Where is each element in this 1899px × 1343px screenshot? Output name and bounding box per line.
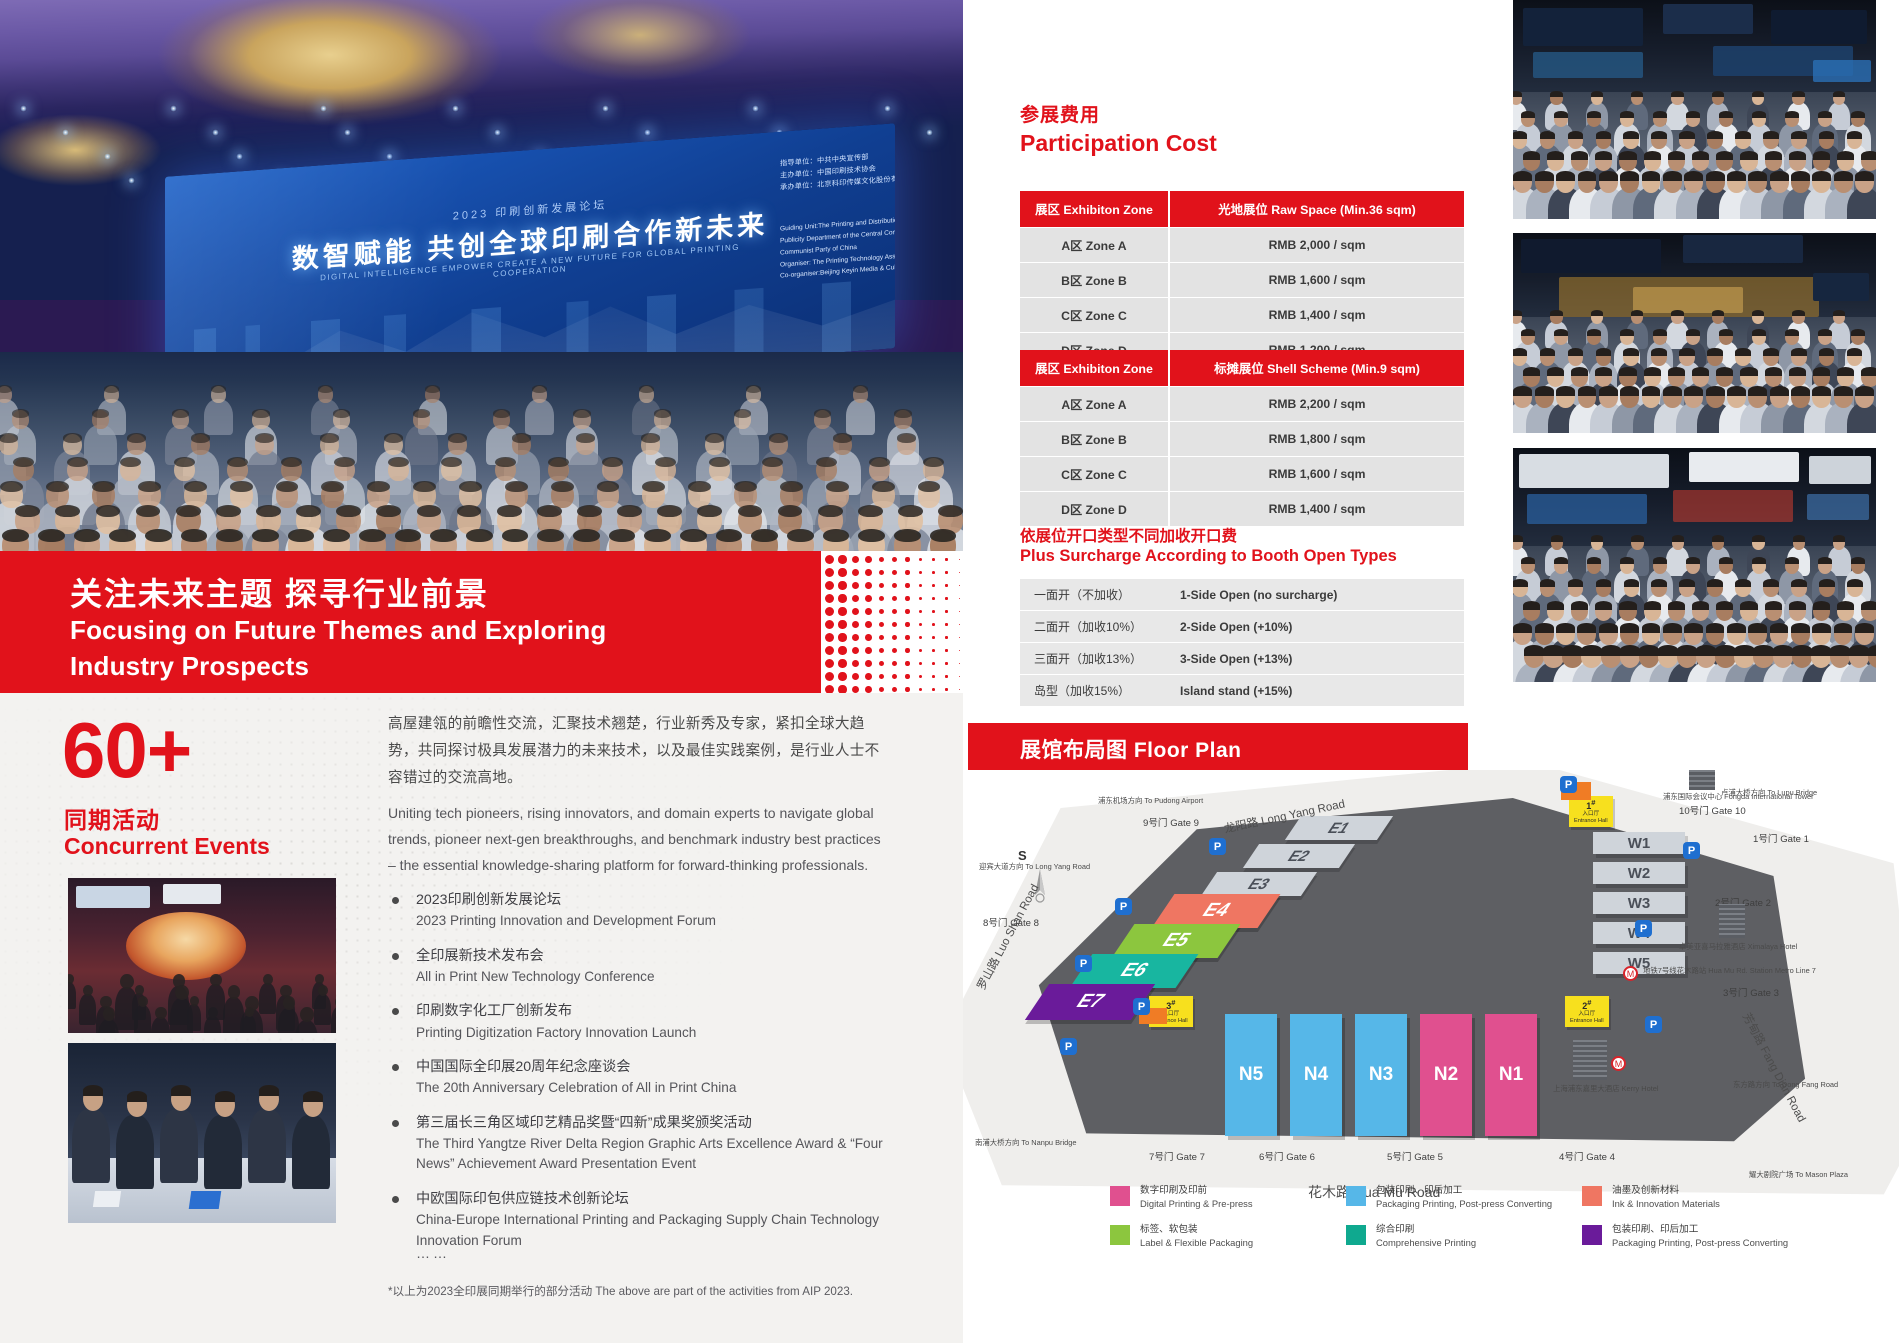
- rp3-person-hair: [1523, 601, 1540, 610]
- rp2-person-hair: [1812, 386, 1831, 396]
- list-item: 中国国际全印展20周年纪念座谈会The 20th Anniversary Cel…: [388, 1057, 898, 1099]
- rp3-booth: [1807, 494, 1869, 520]
- cost-title-cn: 参展费用: [1020, 100, 1100, 127]
- cell-zone: C区 Zone C: [1020, 298, 1168, 332]
- rp3-person-hair: [1568, 579, 1584, 587]
- event-name-cn: 2023印刷创新发展论坛: [416, 890, 898, 911]
- rp3-person-hair: [1591, 535, 1604, 542]
- rp1-person-hair: [1540, 131, 1556, 139]
- table-row: B区 Zone BRMB 1,600 / sqm: [1020, 263, 1464, 297]
- event-name-en: The Third Yangtze River Delta Region Gra…: [416, 1134, 898, 1175]
- rp1-person-hair: [1765, 151, 1782, 160]
- rp3-person-hair: [1734, 645, 1754, 656]
- legend-label-cn: 数字印刷及印前: [1140, 1185, 1325, 1198]
- rp3-person-hair: [1813, 601, 1830, 610]
- rp2-person-hair: [1834, 386, 1853, 396]
- legend-label-cn: 综合印刷: [1376, 1224, 1561, 1237]
- concurrent-events-label-en: Concurrent Events: [64, 833, 270, 860]
- cost-title-en: Participation Cost: [1020, 130, 1217, 157]
- left-column: 2023 印刷创新发展论坛 数智赋能 共创全球印刷合作新未来 DIGITAL I…: [0, 0, 963, 1343]
- rp2-person-hair: [1851, 329, 1865, 336]
- legend-label-cn: 包装印刷、印后加工: [1376, 1185, 1561, 1198]
- rp3-person-hair: [1595, 601, 1612, 610]
- rp1-person-hair: [1587, 111, 1601, 118]
- rp1-person-hair: [1752, 111, 1766, 118]
- rp2-person-hair: [1668, 367, 1685, 376]
- poi-metro-station: 地铁7号线花木路站 Hua Mu Rd. Station Metro Line …: [1643, 966, 1816, 976]
- rp2-person-hair: [1818, 329, 1832, 336]
- cell-zone: B区 Zone B: [1020, 422, 1168, 456]
- rp1-person-hair: [1596, 131, 1612, 139]
- rp1-booth: [1663, 4, 1753, 34]
- rp3-person-hair: [1707, 579, 1723, 587]
- cell-open-type-cn: 二面开（加收10%）: [1020, 611, 1168, 642]
- rp1-person-hair: [1547, 151, 1564, 160]
- rp1-person-hair: [1716, 151, 1733, 160]
- events-footnote: *以上为2023全印展同期举行的部分活动 The above are part …: [388, 1283, 853, 1299]
- rp2-person-hair: [1833, 310, 1845, 316]
- rp3-person-hair: [1577, 623, 1596, 633]
- rp3-person-hair: [1818, 557, 1832, 564]
- rp2-person-hair: [1620, 329, 1634, 336]
- rp3-person-hair: [1791, 579, 1807, 587]
- rp3-person-hair: [1684, 623, 1703, 633]
- rp2-person-hair: [1763, 348, 1779, 356]
- cell-open-type-en: 3-Side Open (+13%): [1168, 643, 1464, 674]
- rp2-person-hair: [1513, 386, 1532, 396]
- right-photo-column: [1470, 0, 1899, 711]
- table-row: 三面开（加收13%）3-Side Open (+13%): [1020, 643, 1464, 674]
- surcharge-table: 一面开（不加收）1-Side Open (no surcharge)二面开（加收…: [1020, 578, 1464, 707]
- rp3-person-hair: [1679, 579, 1695, 587]
- cell-open-type-en: Island stand (+15%): [1168, 675, 1464, 706]
- rp2-booth: [1521, 239, 1661, 273]
- hall-N4[interactable]: N4: [1290, 1014, 1342, 1136]
- event-name-en: The 20th Anniversary Celebration of All …: [416, 1078, 898, 1098]
- rp2-booth: [1683, 235, 1803, 263]
- rp2-person-hair: [1596, 348, 1612, 356]
- legend-color-swatch: [1346, 1225, 1366, 1245]
- col-header-price: 标摊展位 Shell Scheme (Min.9 sqm): [1168, 350, 1464, 386]
- hall-N2[interactable]: N2: [1420, 1014, 1472, 1136]
- headline-en-line1: Focusing on Future Themes and Exploring: [70, 615, 607, 646]
- rp1-booth: [1813, 60, 1871, 82]
- rp3-person-hair: [1620, 623, 1639, 633]
- rp3-person-hair: [1620, 557, 1634, 564]
- rp2-person-hair: [1554, 329, 1568, 336]
- headline-banner: 关注未来主题 探寻行业前景 Focusing on Future Themes …: [0, 551, 821, 693]
- legend-item: 综合印刷Comprehensive Printing: [1346, 1224, 1561, 1250]
- rp3-person-hair: [1789, 601, 1806, 610]
- rp3-person-hair: [1581, 645, 1601, 656]
- rp2-person-hair: [1679, 348, 1695, 356]
- thumbnail-photo-exhibition: [68, 878, 336, 1033]
- screen-credits-en: Guiding Unit:The Printing and Distributi…: [780, 206, 895, 283]
- legend-color-swatch: [1346, 1186, 1366, 1206]
- exhibition-photo-3: [1513, 448, 1876, 682]
- table-row: B区 Zone BRMB 1,800 / sqm: [1020, 422, 1464, 456]
- rp3-person-hair: [1716, 601, 1733, 610]
- rp2-person-hair: [1792, 310, 1804, 316]
- rp2-person-hair: [1578, 386, 1597, 396]
- cell-price: RMB 1,600 / sqm: [1168, 457, 1464, 491]
- rp3-person-hair: [1765, 601, 1782, 610]
- cell-price: RMB 1,400 / sqm: [1168, 492, 1464, 526]
- rp2-person-hair: [1619, 367, 1636, 376]
- rp1-person-hair: [1684, 171, 1703, 181]
- event-name-en: 2023 Printing Innovation and Development…: [416, 911, 898, 931]
- event-name-cn: 中国国际全印展20周年纪念座谈会: [416, 1057, 898, 1078]
- gate-label-10: 10号门 Gate 10: [1679, 806, 1746, 818]
- thumbnail-photo-forum: [68, 1043, 336, 1223]
- rp2-person-hair: [1719, 329, 1733, 336]
- rp3-person-hair: [1868, 645, 1876, 656]
- rp1-person-hair: [1679, 131, 1695, 139]
- parking-P7[interactable]: P: [1075, 955, 1092, 972]
- rp2-person-hair: [1785, 329, 1799, 336]
- rp2-person-hair: [1735, 348, 1751, 356]
- legend-color-swatch: [1110, 1225, 1130, 1245]
- rp1-person-hair: [1686, 111, 1700, 118]
- rp3-person-hair: [1735, 579, 1751, 587]
- rp2-person-hair: [1847, 348, 1863, 356]
- rp1-person-hair: [1620, 171, 1639, 181]
- rp2-person-hair: [1837, 367, 1854, 376]
- rp3-person-hair: [1639, 645, 1659, 656]
- rp3-person-hair: [1521, 557, 1535, 564]
- rp1-person-hair: [1812, 171, 1831, 181]
- entrance-hall-2[interactable]: 2#入口厅Entrance Hall: [1565, 996, 1609, 1027]
- cell-zone: D区 Zone D: [1020, 492, 1168, 526]
- rp2-booth: [1633, 287, 1743, 313]
- rp3-person-hair: [1748, 623, 1767, 633]
- rp3-person-hair: [1624, 579, 1640, 587]
- legend-column: 油墨及创新材料Ink & Innovation Materials包装印刷、印后…: [1582, 1185, 1797, 1262]
- event-name-cn: 第三届长三角区域印艺精品奖暨“四新”成果奖颁奖活动: [416, 1113, 898, 1134]
- rp2-person-hair: [1653, 329, 1667, 336]
- kerry-hotel-icon: [1573, 1040, 1607, 1080]
- rp1-booth: [1523, 8, 1643, 46]
- compass-south-label: S: [1018, 848, 1027, 863]
- rp2-person-hair: [1727, 386, 1746, 396]
- rp3-person-hair: [1812, 623, 1831, 633]
- rp1-person-hair: [1671, 91, 1683, 97]
- rp3-person-hair: [1686, 557, 1700, 564]
- rp3-person-hair: [1753, 645, 1773, 656]
- rp1-person-hair: [1818, 111, 1832, 118]
- rp3-person-hair: [1653, 557, 1667, 564]
- headline-en-line2: Industry Prospects: [70, 651, 309, 682]
- legend-label-en: Ink & Innovation Materials: [1612, 1198, 1797, 1211]
- parking-P3[interactable]: P: [1209, 838, 1226, 855]
- rp2-person-hair: [1540, 348, 1556, 356]
- exhibition-photo-2: [1513, 233, 1876, 433]
- rp3-person-hair: [1562, 645, 1582, 656]
- poi-lupu-bridge-dir: 卢浦大桥方向 To Lupu Bridge: [1721, 788, 1817, 798]
- legend-label-en: Label & Flexible Packaging: [1140, 1237, 1325, 1250]
- rp3-person-hair: [1712, 535, 1725, 542]
- cell-open-type-cn: 岛型（加收15%）: [1020, 675, 1168, 706]
- rp3-person-hair: [1513, 535, 1523, 542]
- rp1-person-hair: [1855, 171, 1874, 181]
- rp3-person-hair: [1620, 645, 1640, 656]
- rp3-person-hair: [1587, 557, 1601, 564]
- rp1-person-hair: [1644, 151, 1661, 160]
- rp1-person-hair: [1620, 111, 1634, 118]
- rp2-person-hair: [1556, 386, 1575, 396]
- rp2-person-hair: [1620, 386, 1639, 396]
- rp3-person-hair: [1631, 535, 1644, 542]
- thumb1-lantern: [126, 912, 246, 980]
- rp3-person-hair: [1719, 557, 1733, 564]
- description-paragraph-en: Uniting tech pioneers, rising innovators…: [388, 801, 888, 879]
- list-item: 第三届长三角区域印艺精品奖暨“四新”成果奖颁奖活动The Third Yangt…: [388, 1113, 898, 1175]
- event-count: 60+: [62, 711, 191, 789]
- event-name-cn: 印刷数字化工厂创新发布: [416, 1001, 898, 1022]
- rp3-person-hair: [1706, 623, 1725, 633]
- rp1-person-hair: [1847, 131, 1863, 139]
- rp3-person-hair: [1551, 535, 1564, 542]
- cell-zone: A区 Zone A: [1020, 387, 1168, 421]
- legend-color-swatch: [1582, 1225, 1602, 1245]
- rp1-person-hair: [1833, 91, 1845, 97]
- hall-W2[interactable]: W2: [1593, 862, 1685, 884]
- rp2-person-hair: [1547, 367, 1564, 376]
- poi-pudong-airport-dir: 浦东机场方向 To Pudong Airport: [1098, 796, 1203, 806]
- legend-item: 包装印刷、印后加工Packaging Printing, Post-press …: [1582, 1224, 1797, 1250]
- rp3-person-hair: [1543, 645, 1563, 656]
- rp2-person-hair: [1791, 386, 1810, 396]
- rp1-person-hair: [1791, 171, 1810, 181]
- rp3-booth: [1689, 452, 1799, 482]
- legend-item: 油墨及创新材料Ink & Innovation Materials: [1582, 1185, 1797, 1211]
- rp3-booth: [1809, 456, 1871, 484]
- legend-label-cn: 包装印刷、印后加工: [1612, 1224, 1797, 1237]
- rp3-person-hair: [1715, 645, 1735, 656]
- rp1-booth: [1771, 10, 1867, 44]
- rp3-person-hair: [1793, 535, 1806, 542]
- cell-zone: C区 Zone C: [1020, 457, 1168, 491]
- rp1-person-hair: [1591, 91, 1603, 97]
- raw-space-price-table: 展区 Exhibiton Zone光地展位 Raw Space (Min.36 …: [1020, 190, 1464, 368]
- rp2-person-hair: [1623, 348, 1639, 356]
- rp3-booth: [1519, 454, 1669, 488]
- rp2-person-hair: [1813, 367, 1830, 376]
- rp2-person-hair: [1535, 386, 1554, 396]
- rp2-person-hair: [1568, 348, 1584, 356]
- parking-P1[interactable]: P: [1060, 1038, 1077, 1055]
- list-item: 全印展新技术发布会All in Print New Technology Con…: [388, 946, 898, 988]
- tower-building-icon: [1689, 770, 1715, 790]
- table-row: C区 Zone CRMB 1,400 / sqm: [1020, 298, 1464, 332]
- rp1-person-hair: [1668, 151, 1685, 160]
- hall-N1[interactable]: N1: [1485, 1014, 1537, 1136]
- rp1-person-hair: [1595, 151, 1612, 160]
- list-item: 印刷数字化工厂创新发布Printing Digitization Factory…: [388, 1001, 898, 1043]
- rp2-person-hair: [1765, 367, 1782, 376]
- rp1-person-hair: [1789, 151, 1806, 160]
- rp2-person-hair: [1513, 348, 1527, 356]
- thumb1-sign-mid: [163, 884, 221, 904]
- rp3-person-hair: [1833, 535, 1846, 542]
- screen-credits-cn: 指导单位：中共中央宣传部 主办单位：中国印刷技术协会 承办单位：北京科印传媒文化…: [780, 140, 895, 193]
- parking-P4[interactable]: P: [1683, 842, 1700, 859]
- rp1-person-hair: [1599, 171, 1618, 181]
- floorplan-header-label: 展馆布局图 Floor Plan: [1020, 734, 1242, 764]
- rp3-person-hair: [1849, 645, 1869, 656]
- rp1-person-hair: [1727, 171, 1746, 181]
- rp1-person-hair: [1791, 131, 1807, 139]
- rp1-person-hair: [1712, 91, 1724, 97]
- concurrent-events-label-cn: 同期活动: [64, 801, 160, 835]
- table-row: C区 Zone CRMB 1,600 / sqm: [1020, 457, 1464, 491]
- legend-label-cn: 标签、软包装: [1140, 1224, 1325, 1237]
- rp1-person-hair: [1707, 131, 1723, 139]
- rp2-person-hair: [1663, 386, 1682, 396]
- rp3-person-hair: [1847, 579, 1863, 587]
- rp3-person-hair: [1672, 535, 1685, 542]
- parking-P-VIP[interactable]: P: [1560, 776, 1577, 793]
- rp2-person-hair: [1671, 310, 1683, 316]
- rp1-person-hair: [1692, 151, 1709, 160]
- rp2-person-hair: [1770, 386, 1789, 396]
- legend-label-en: Digital Printing & Pre-press: [1140, 1198, 1325, 1211]
- ximalaya-hotel-icon: [1719, 904, 1745, 938]
- rp1-person-hair: [1568, 131, 1584, 139]
- rp3-person-hair: [1851, 557, 1865, 564]
- hall-E3[interactable]: E3: [1201, 872, 1317, 896]
- table-row: A区 Zone ARMB 2,000 / sqm: [1020, 228, 1464, 262]
- poi-long-yang-road-dir: 迎宾大道方向 To Long Yang Road: [979, 862, 1090, 872]
- parking-P2[interactable]: P: [1115, 898, 1132, 915]
- entrance-hall-1[interactable]: 1#入口厅Entrance Hall: [1569, 796, 1613, 827]
- rp1-person-hair: [1642, 171, 1661, 181]
- table-row: 二面开（加收10%）2-Side Open (+10%): [1020, 611, 1464, 642]
- cell-price: RMB 1,800 / sqm: [1168, 422, 1464, 456]
- rp3-person-hair: [1830, 645, 1850, 656]
- rp1-person-hair: [1792, 91, 1804, 97]
- legend-column: 包装印刷、印后加工Packaging Printing, Post-press …: [1346, 1185, 1561, 1262]
- brochure-page: 2023 印刷创新发展论坛 数智赋能 共创全球印刷合作新未来 DIGITAL I…: [0, 0, 1899, 1343]
- rp1-person-hair: [1571, 151, 1588, 160]
- rp1-person-hair: [1763, 131, 1779, 139]
- table-row: D区 Zone DRMB 1,400 / sqm: [1020, 492, 1464, 526]
- rp2-booth: [1813, 273, 1869, 301]
- shell-scheme-price-table: 展区 Exhibiton Zone标摊展位 Shell Scheme (Min.…: [1020, 349, 1464, 527]
- table-row: A区 Zone ARMB 2,200 / sqm: [1020, 387, 1464, 421]
- legend-item: 标签、软包装Label & Flexible Packaging: [1110, 1224, 1325, 1250]
- table-header-row: 展区 Exhibiton Zone标摊展位 Shell Scheme (Min.…: [1020, 350, 1464, 386]
- metro-icon-2: M: [1611, 1056, 1626, 1071]
- rp2-person-hair: [1631, 310, 1643, 316]
- rp1-person-hair: [1619, 151, 1636, 160]
- hall-N3[interactable]: N3: [1355, 1014, 1407, 1136]
- rp3-person-hair: [1571, 601, 1588, 610]
- table-row: 岛型（加收15%）Island stand (+15%): [1020, 675, 1464, 706]
- rp2-person-hair: [1748, 386, 1767, 396]
- surcharge-title-cn: 依展位开口类型不同加收开口费: [1020, 524, 1237, 546]
- audience-crowd: [0, 352, 963, 551]
- col-header-price: 光地展位 Raw Space (Min.36 sqm): [1168, 191, 1464, 227]
- hall-W1[interactable]: W1: [1593, 832, 1685, 854]
- gate-label-5: 5号门 Gate 5: [1387, 1152, 1443, 1164]
- rp1-person-hair: [1653, 111, 1667, 118]
- rp3-person-hair: [1752, 557, 1766, 564]
- hall-W3[interactable]: W3: [1593, 892, 1685, 914]
- rp3-booth: [1527, 494, 1647, 524]
- poi-ximalaya-hotel: 卓美亚喜马拉雅酒店 Ximalaya Hotel: [1679, 942, 1797, 952]
- rp2-person-hair: [1595, 367, 1612, 376]
- rp3-person-hair: [1727, 623, 1746, 633]
- rp2-person-hair: [1651, 348, 1667, 356]
- rp2-person-hair: [1521, 329, 1535, 336]
- poi-kerry-hotel: 上海浦东嘉里大酒店 Kerry Hotel: [1553, 1084, 1659, 1094]
- hall-E2[interactable]: E2: [1243, 844, 1355, 868]
- rp3-person-hair: [1819, 579, 1835, 587]
- hall-N5[interactable]: N5: [1225, 1014, 1277, 1136]
- rp3-person-hair: [1785, 557, 1799, 564]
- rp1-person-hair: [1770, 171, 1789, 181]
- list-item: 中欧国际印包供应链技术创新论坛China-Europe Internationa…: [388, 1189, 898, 1251]
- list-item: 2023印刷创新发展论坛2023 Printing Innovation and…: [388, 890, 898, 932]
- cell-zone: B区 Zone B: [1020, 263, 1168, 297]
- poi-mason-plaza-dir: 耀大剧院广场 To Mason Plaza: [1749, 1170, 1848, 1180]
- rp3-person-hair: [1651, 579, 1667, 587]
- parking-P6[interactable]: P: [1645, 1016, 1662, 1033]
- rp2-person-hair: [1591, 310, 1603, 316]
- rp1-person-hair: [1550, 91, 1562, 97]
- rp3-person-hair: [1644, 601, 1661, 610]
- cell-open-type-cn: 三面开（加收13%）: [1020, 643, 1168, 674]
- rp1-person-hair: [1523, 151, 1540, 160]
- rp3-person-hair: [1696, 645, 1716, 656]
- rp3-person-hair: [1677, 645, 1697, 656]
- table-header-row: 展区 Exhibiton Zone光地展位 Raw Space (Min.36 …: [1020, 191, 1464, 227]
- rp1-booth: [1533, 52, 1643, 78]
- rp3-booth: [1673, 490, 1793, 522]
- rp2-person-hair: [1692, 367, 1709, 376]
- cell-open-type-en: 2-Side Open (+10%): [1168, 611, 1464, 642]
- cell-open-type-cn: 一面开（不加收）: [1020, 579, 1168, 610]
- rp3-person-hair: [1642, 623, 1661, 633]
- col-header-zone: 展区 Exhibiton Zone: [1020, 191, 1168, 227]
- rp2-person-hair: [1706, 386, 1725, 396]
- rp1-person-hair: [1785, 111, 1799, 118]
- cell-price: RMB 1,400 / sqm: [1168, 298, 1464, 332]
- rp2-person-hair: [1707, 348, 1723, 356]
- rp1-person-hair: [1861, 151, 1876, 160]
- rp2-person-hair: [1712, 310, 1724, 316]
- rp1-person-hair: [1556, 171, 1575, 181]
- rp2-person-hair: [1599, 386, 1618, 396]
- events-ellipsis: ……: [416, 1245, 450, 1261]
- rp2-person-hair: [1642, 386, 1661, 396]
- gate-label-3: 3号门 Gate 3: [1723, 988, 1779, 1000]
- floorplan-header: 展馆布局图 Floor Plan: [968, 723, 1468, 770]
- cell-price: RMB 1,600 / sqm: [1168, 263, 1464, 297]
- rp2-person-hair: [1861, 367, 1876, 376]
- gate-label-4: 4号门 Gate 4: [1559, 1152, 1615, 1164]
- parking-P5[interactable]: P: [1635, 920, 1652, 937]
- rp2-person-hair: [1819, 348, 1835, 356]
- exhibition-photo-1: [1513, 0, 1876, 219]
- metro-icon: M: [1623, 966, 1638, 981]
- cell-price: RMB 2,000 / sqm: [1168, 228, 1464, 262]
- parking-P-VIP-2[interactable]: P: [1133, 998, 1150, 1015]
- rp1-person-hair: [1578, 171, 1597, 181]
- rp2-person-hair: [1550, 310, 1562, 316]
- legend-label-en: Comprehensive Printing: [1376, 1237, 1561, 1250]
